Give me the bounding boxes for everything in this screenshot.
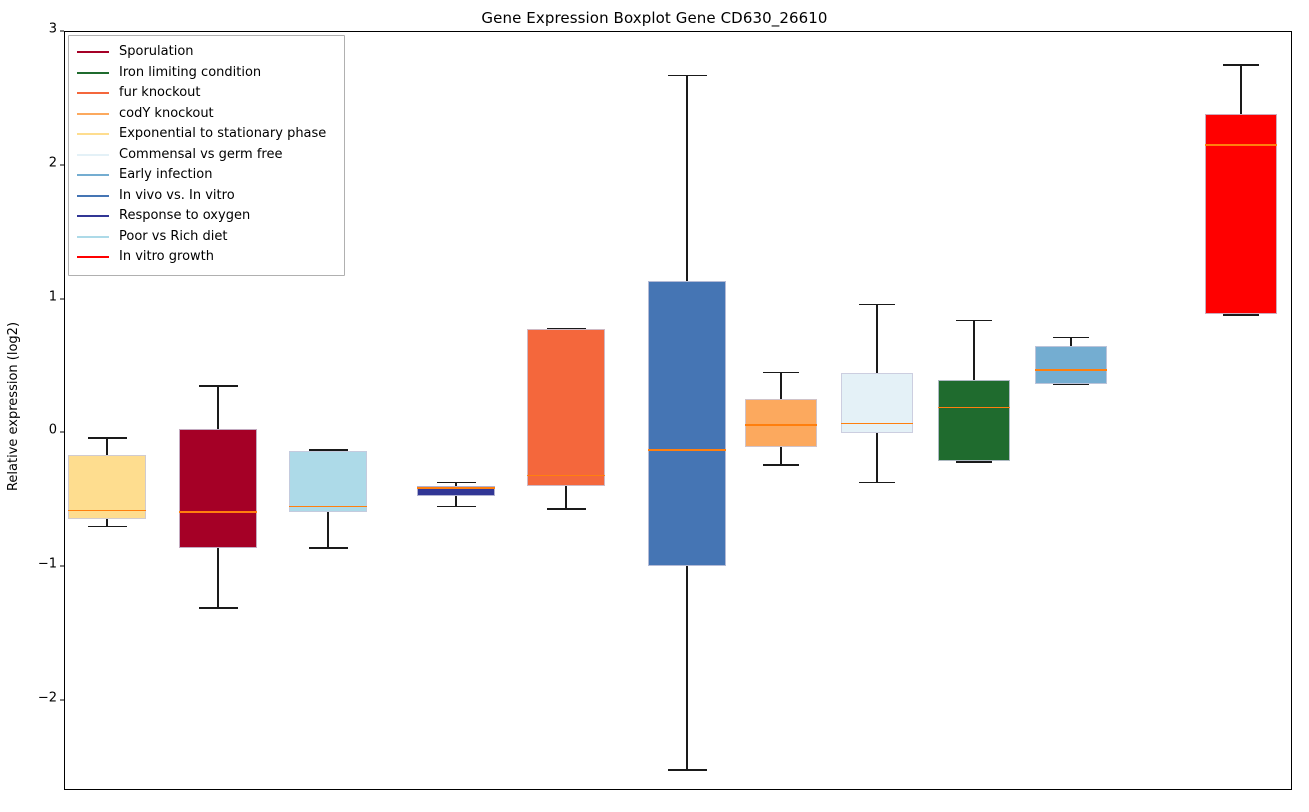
legend-item-label: In vitro growth <box>119 247 214 268</box>
legend-color-swatch <box>77 51 109 53</box>
legend-item[interactable]: In vivo vs. In vitro <box>77 186 336 207</box>
y-tick-label: −1 <box>38 557 57 572</box>
legend-item[interactable]: In vitro growth <box>77 247 336 268</box>
legend-item[interactable]: Response to oxygen <box>77 206 336 227</box>
y-axis-ticks: 3210−1−2 <box>0 0 64 812</box>
legend-color-swatch <box>77 113 109 115</box>
legend-color-swatch <box>77 154 109 156</box>
whisker-cap-upper <box>1223 64 1259 65</box>
legend-color-swatch <box>77 256 109 258</box>
legend-item-label: Response to oxygen <box>119 206 250 227</box>
legend: SporulationIron limiting conditionfur kn… <box>68 35 345 276</box>
legend-item[interactable]: Commensal vs germ free <box>77 145 336 166</box>
legend-item-label: Sporulation <box>119 42 194 63</box>
legend-item-label: fur knockout <box>119 83 201 104</box>
legend-color-swatch <box>77 174 109 176</box>
whisker-upper <box>1240 64 1241 114</box>
chart-title: Gene Expression Boxplot Gene CD630_26610 <box>0 9 1309 27</box>
legend-color-swatch <box>77 133 109 135</box>
legend-color-swatch <box>77 236 109 238</box>
figure-canvas: Gene Expression Boxplot Gene CD630_26610… <box>0 0 1309 812</box>
whisker-cap-lower <box>1223 314 1259 315</box>
legend-item-label: Poor vs Rich diet <box>119 227 227 248</box>
legend-item[interactable]: Iron limiting condition <box>77 63 336 84</box>
legend-item-label: Exponential to stationary phase <box>119 124 326 145</box>
legend-item[interactable]: codY knockout <box>77 104 336 125</box>
y-tick-label: 0 <box>49 423 57 438</box>
legend-item[interactable]: Poor vs Rich diet <box>77 227 336 248</box>
legend-item-label: Iron limiting condition <box>119 63 261 84</box>
y-tick-label: 1 <box>49 289 57 304</box>
y-tick-label: −2 <box>38 691 57 706</box>
y-tick-label: 3 <box>49 22 57 37</box>
legend-color-swatch <box>77 92 109 94</box>
y-tick-label: 2 <box>49 155 57 170</box>
legend-color-swatch <box>77 215 109 217</box>
legend-item-label: Commensal vs germ free <box>119 145 282 166</box>
legend-item[interactable]: fur knockout <box>77 83 336 104</box>
legend-item[interactable]: Sporulation <box>77 42 336 63</box>
legend-color-swatch <box>77 195 109 197</box>
legend-item[interactable]: Exponential to stationary phase <box>77 124 336 145</box>
legend-item-label: Early infection <box>119 165 212 186</box>
median-line <box>1205 144 1277 146</box>
legend-color-swatch <box>77 72 109 74</box>
legend-item-label: In vivo vs. In vitro <box>119 186 235 207</box>
legend-item[interactable]: Early infection <box>77 165 336 186</box>
legend-item-label: codY knockout <box>119 104 214 125</box>
